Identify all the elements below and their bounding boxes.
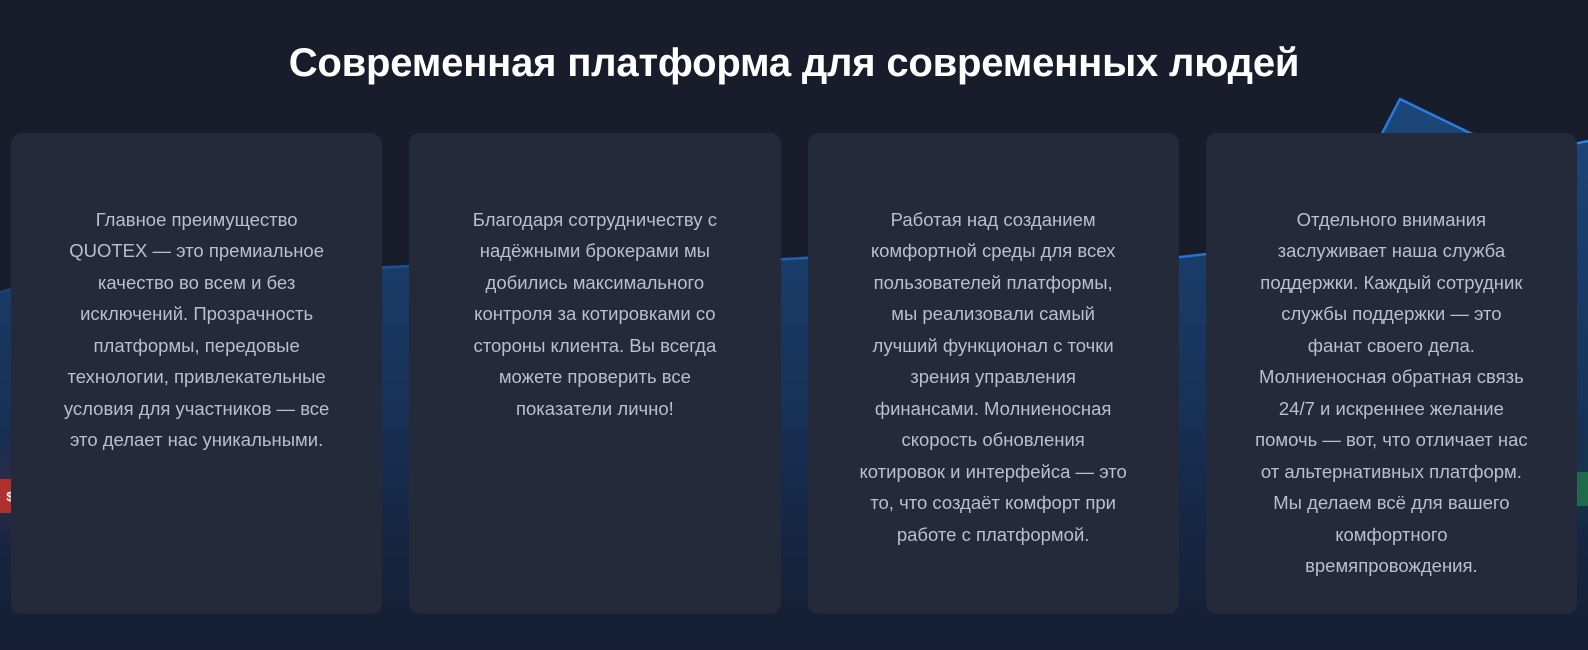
feature-card-text: Главное преимущество QUOTEX — это премиа… [59,204,334,456]
feature-card-advantage: Главное преимущество QUOTEX — это премиа… [11,133,382,614]
page-title: Современная платформа для современных лю… [0,35,1588,91]
promo-section: $ 15 Современная платформа для современн… [0,0,1588,650]
feature-card-text: Отдельного внимания заслуживает наша слу… [1252,204,1530,582]
feature-card-text: Благодаря сотрудничеству с надёжными бро… [462,204,727,425]
feature-cards: Главное преимущество QUOTEX — это премиа… [11,133,1577,614]
feature-card-support: Отдельного внимания заслуживает наша слу… [1206,133,1577,614]
feature-card-functionality: Работая над созданием комфортной среды д… [808,133,1179,614]
feature-card-brokers: Благодаря сотрудничеству с надёжными бро… [409,133,780,614]
feature-card-text: Работая над созданием комфортной среды д… [858,204,1128,551]
